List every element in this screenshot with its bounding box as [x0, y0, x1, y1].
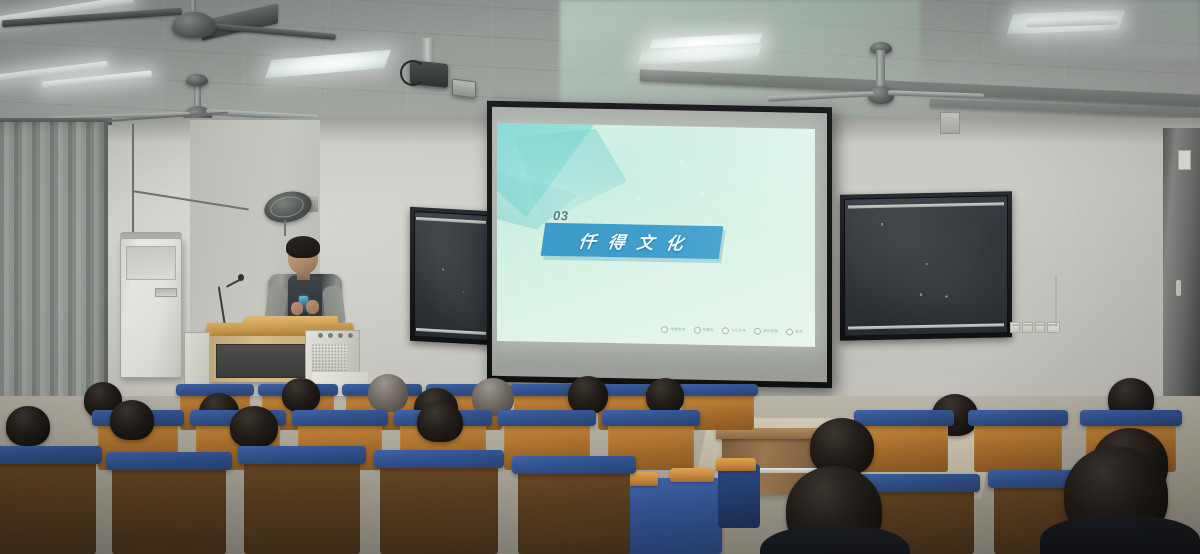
chalk-mark [945, 295, 947, 297]
seat-frame[interactable] [512, 456, 636, 474]
projector-cable [400, 60, 426, 86]
podium-button-3[interactable] [338, 333, 343, 338]
door-notice-paper [1178, 150, 1191, 170]
wall-fan-pull-cord [284, 220, 286, 236]
slide-title-char-1: 仟 [577, 227, 600, 252]
presenter-hair [286, 236, 320, 258]
audience-shoulders-foreground [1040, 516, 1200, 554]
screen-dust-speck [701, 192, 703, 194]
partner-logo-3-label: 今日头条 [731, 328, 746, 333]
partner-logo-5: 新浪 [786, 328, 803, 335]
blackboard-left-bottom-rail [416, 328, 485, 335]
slide-title-char-4: 化 [664, 229, 687, 254]
wall-conduit-horizontal [1012, 324, 1058, 326]
partner-logo-1-label: 中国电信 [670, 327, 685, 332]
podium-button-2[interactable] [328, 333, 333, 338]
partner-logo-4: 腾讯视频 [754, 328, 778, 335]
seat-frame[interactable] [106, 452, 232, 470]
podium-front-panel [216, 344, 308, 378]
podium-microphone-head [238, 274, 244, 281]
seat-back[interactable] [380, 458, 498, 554]
partner-logo-5-icon [786, 328, 793, 335]
wall-vent-box [940, 112, 960, 134]
blackboard-right-top-rail [848, 202, 1004, 208]
blackboard-left [410, 207, 492, 346]
chalk-mark [920, 293, 923, 296]
chalk-mark [926, 263, 928, 265]
slide-title: 仟 得 文 化 [541, 224, 723, 258]
seat-frame[interactable] [602, 410, 700, 426]
partner-logo-1: 中国电信 [661, 326, 685, 333]
chalk-mark [463, 292, 465, 294]
partner-logo-1-icon [661, 326, 668, 333]
seat-back[interactable] [112, 460, 226, 554]
seat-frame[interactable] [0, 446, 102, 464]
seat-frame[interactable] [498, 410, 596, 426]
slide-title-char-2: 得 [606, 228, 629, 253]
seating-row-foreground [0, 432, 1200, 554]
podium-button-1[interactable] [318, 333, 323, 338]
blackboard-right [840, 191, 1012, 341]
blackboard-right-bottom-rail [848, 323, 1004, 329]
ceiling-fan-1-motor [172, 12, 216, 38]
screen-dust-speck [681, 161, 683, 163]
podium-button-4[interactable] [348, 333, 353, 338]
partner-logo-4-icon [754, 328, 761, 335]
seat-back[interactable] [518, 464, 630, 554]
blackboard-left-surface [414, 211, 488, 341]
blackboard-right-surface [844, 195, 1008, 336]
air-conditioner-display-panel[interactable] [155, 288, 177, 297]
ceiling-fan-3-rod [876, 50, 885, 88]
wall-mounted-fan [262, 190, 326, 238]
chalk-mark [881, 223, 883, 225]
seat-frame[interactable] [292, 410, 388, 426]
presenter-left-hand [291, 302, 303, 315]
podium-control-buttons[interactable] [318, 332, 360, 339]
partner-logo-5-label: 新浪 [795, 330, 803, 335]
projection-screen-surface: 03 仟 得 文 化 中国电信 阿里云 [492, 107, 827, 382]
door-handle[interactable] [1176, 280, 1181, 296]
presenter-right-hand [306, 300, 319, 314]
seat-back[interactable] [244, 454, 360, 554]
slide-section-number: 03 [553, 208, 568, 223]
partner-logo-3-icon [722, 327, 729, 334]
projector-junction-box [452, 79, 476, 99]
air-conditioner-vent [126, 246, 176, 280]
partner-logo-2-icon [694, 327, 701, 334]
seat-frame[interactable] [238, 446, 366, 464]
partner-logo-4-label: 腾讯视频 [763, 329, 778, 334]
ceiling-fan-3 [830, 42, 1030, 102]
partner-logo-3: 今日头条 [722, 327, 746, 334]
ceiling-fan-2-motor [186, 74, 208, 86]
seat-frame[interactable] [1080, 410, 1182, 426]
lecture-hall-photo: 03 仟 得 文 化 中国电信 阿里云 [0, 0, 1200, 554]
seat-back[interactable] [0, 454, 96, 554]
seat-frame[interactable] [678, 384, 758, 396]
ceiling-projector [398, 38, 488, 100]
seat-frame[interactable] [854, 410, 954, 426]
ceiling-fan-3-blade-right [888, 90, 984, 98]
chalk-mark [442, 268, 444, 270]
wall-wire-vertical [132, 124, 134, 242]
seat-frame[interactable] [968, 410, 1068, 426]
slide-footer-logo-row: 中国电信 阿里云 今日头条 腾讯视频 [615, 323, 803, 338]
seat-frame[interactable] [374, 450, 504, 468]
partner-logo-2: 阿里云 [694, 327, 714, 334]
partner-logo-2-label: 阿里云 [703, 328, 714, 333]
wall-conduit [1055, 275, 1057, 325]
blackboard-left-top-rail [416, 217, 485, 224]
slide-title-char-3: 文 [635, 229, 658, 254]
ceiling-fan-1 [130, 0, 360, 58]
podium-speaker-grille [312, 344, 348, 372]
projection-screen: 03 仟 得 文 化 中国电信 阿里云 [487, 101, 832, 389]
projected-slide: 03 仟 得 文 化 中国电信 阿里云 [497, 123, 815, 347]
screen-dust-speck [637, 198, 639, 200]
